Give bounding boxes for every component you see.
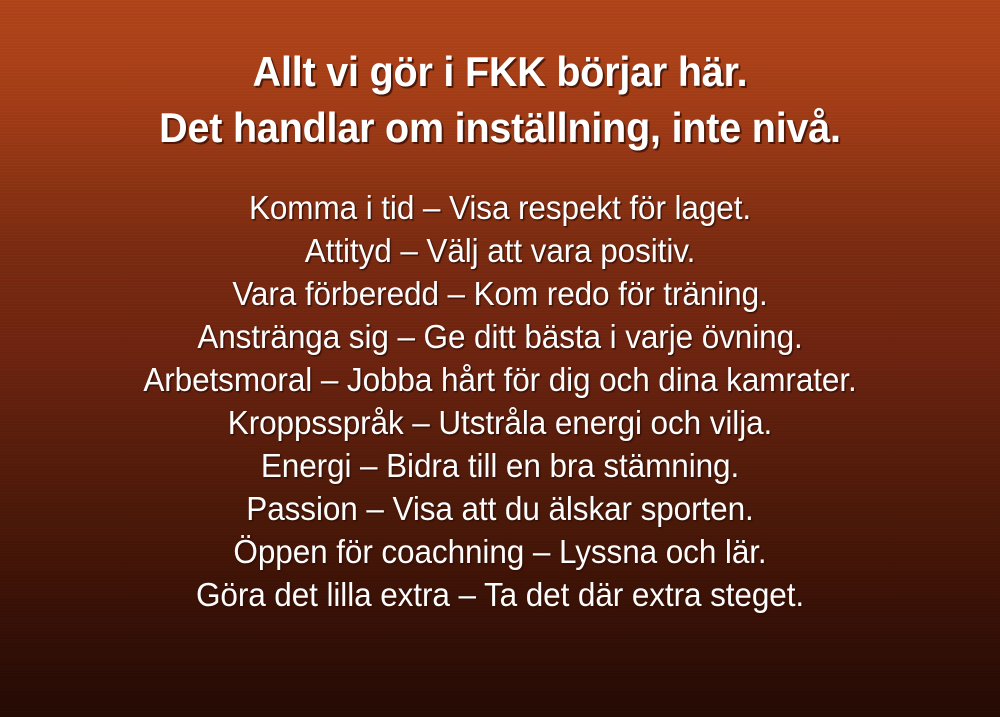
list-item: Passion – Visa att du älskar sporten. [23,487,978,530]
list-item: Arbetsmoral – Jobba hårt för dig och din… [23,358,978,401]
list-item: Energi – Bidra till en bra stämning. [23,444,978,487]
list-item: Komma i tid – Visa respekt för laget. [23,186,978,229]
list-item: Öppen för coachning – Lyssna och lär. [23,530,978,573]
list-item: Kroppsspråk – Utstråla energi och vilja. [23,401,978,444]
list-item: Vara förberedd – Kom redo för träning. [23,272,978,315]
slide-title: Allt vi gör i FKK börjar här. Det handla… [0,0,1000,156]
slide-content: Allt vi gör i FKK börjar här. Det handla… [0,0,1000,717]
list-item: Göra det lilla extra – Ta det där extra … [23,573,978,616]
values-list: Komma i tid – Visa respekt för laget. At… [0,186,1000,616]
list-item: Anstränga sig – Ge ditt bästa i varje öv… [23,315,978,358]
title-line-1: Allt vi gör i FKK börjar här. [30,44,970,100]
list-item: Attityd – Välj att vara positiv. [23,229,978,272]
title-line-2: Det handlar om inställning, inte nivå. [30,100,970,156]
slide-canvas: Allt vi gör i FKK börjar här. Det handla… [0,0,1000,717]
